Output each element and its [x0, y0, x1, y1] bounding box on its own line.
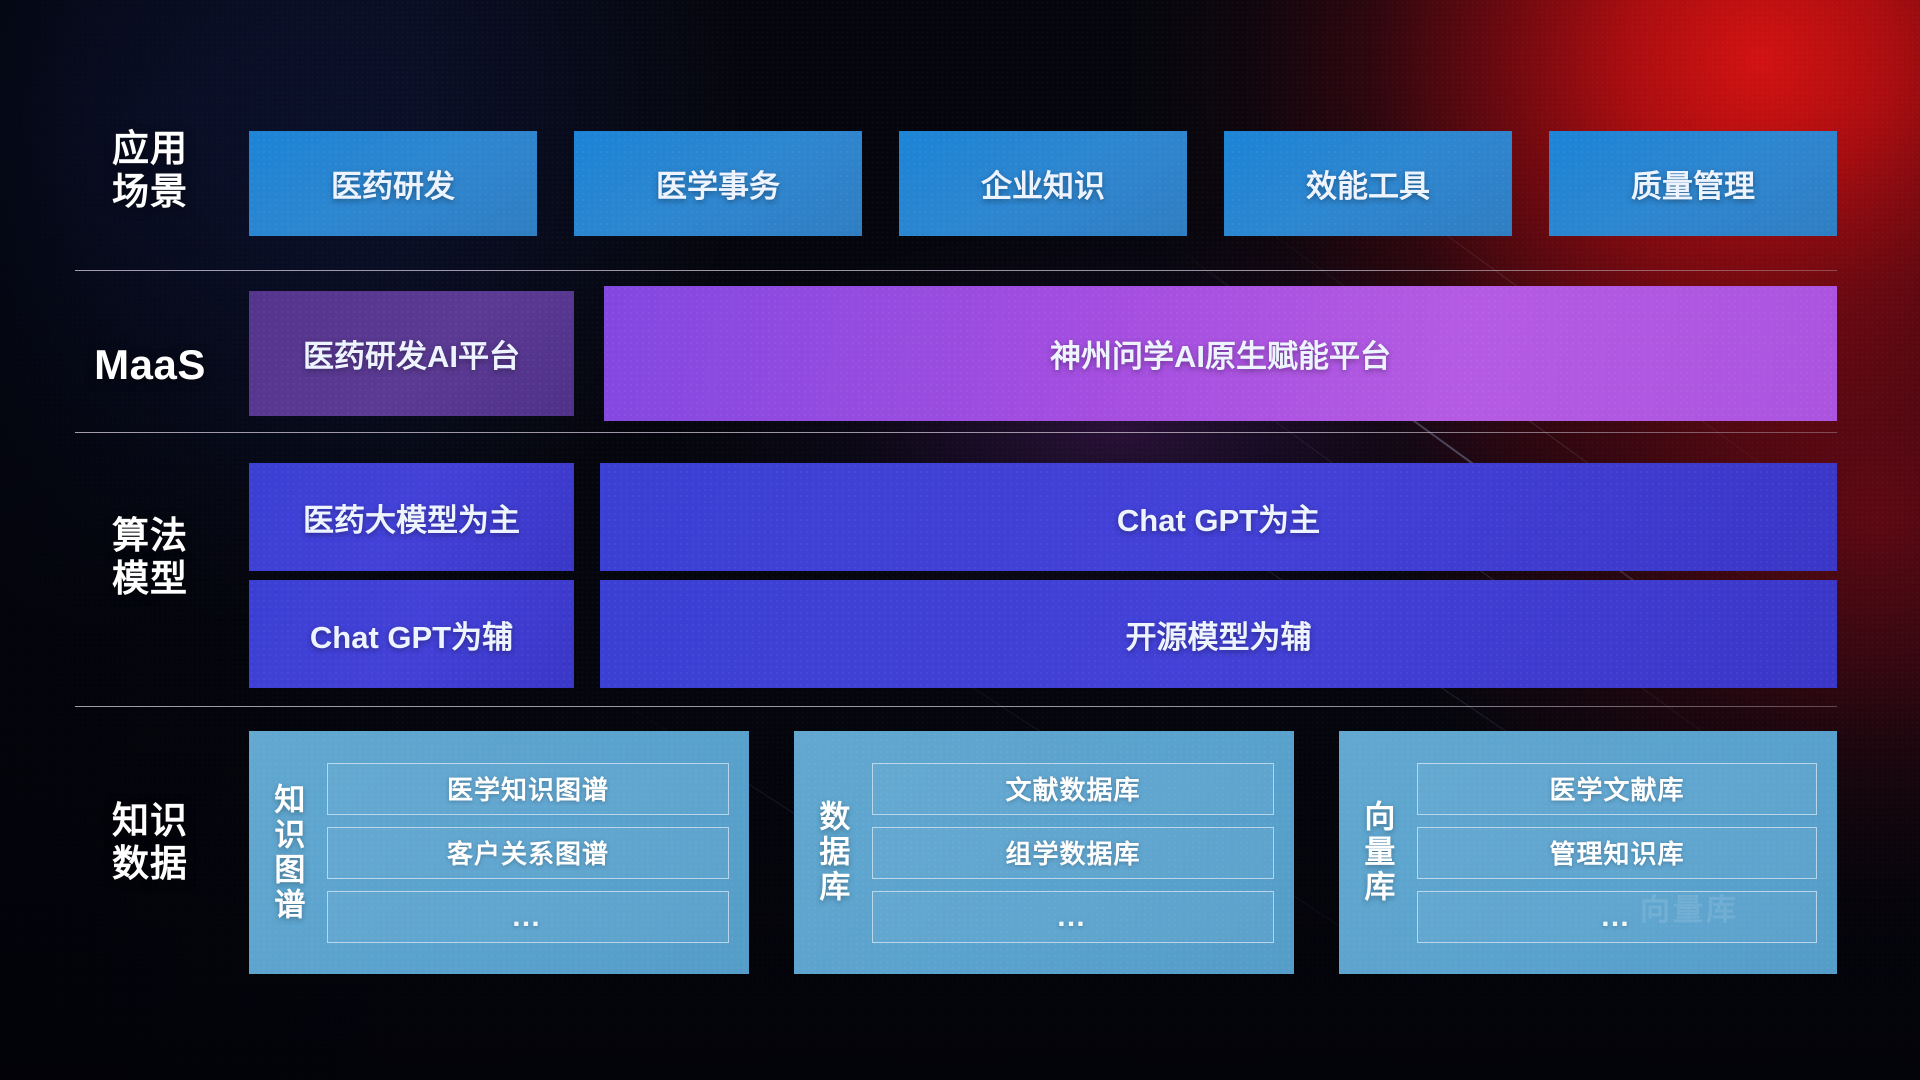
- row-label-algorithm-model: 算法 模型: [60, 515, 240, 601]
- app-card-medical-affairs[interactable]: 医学事务: [574, 131, 862, 236]
- knowledge-item[interactable]: 医学知识图谱: [327, 763, 729, 815]
- algo-card-label: 医药大模型为主: [303, 495, 520, 540]
- knowledge-item[interactable]: 管理知识库: [1417, 827, 1817, 879]
- maas-card-shenzhou-wenxue-platform[interactable]: 神州问学AI原生赋能平台: [604, 286, 1837, 421]
- maas-card-label: 神州问学AI原生赋能平台: [1050, 331, 1391, 376]
- app-card-pharma-rd[interactable]: 医药研发: [249, 131, 537, 236]
- knowledge-group-knowledge-graph[interactable]: 知识图谱 医学知识图谱 客户关系图谱 …: [249, 731, 749, 974]
- algo-card-chatgpt-primary[interactable]: Chat GPT为主: [600, 463, 1837, 571]
- knowledge-group-title: 向量库: [1339, 731, 1413, 974]
- slide-canvas: 应用 场景 医药研发 医学事务 企业知识 效能工具 质量管理 MaaS 医药研发…: [0, 0, 1920, 1080]
- algo-card-label: 开源模型为辅: [1126, 612, 1312, 657]
- knowledge-item-more[interactable]: …: [327, 891, 729, 943]
- knowledge-group-vector-store[interactable]: 向量库 医学文献库 管理知识库 …: [1339, 731, 1837, 974]
- app-card-enterprise-knowledge[interactable]: 企业知识: [899, 131, 1187, 236]
- app-card-label: 医药研发: [331, 161, 455, 206]
- app-card-label: 效能工具: [1306, 161, 1430, 206]
- app-card-quality-management[interactable]: 质量管理: [1549, 131, 1837, 236]
- maas-card-pharma-ai-platform[interactable]: 医药研发AI平台: [249, 291, 574, 416]
- app-card-label: 企业知识: [981, 161, 1105, 206]
- app-card-efficiency-tools[interactable]: 效能工具: [1224, 131, 1512, 236]
- algo-card-label: Chat GPT为辅: [310, 612, 513, 657]
- knowledge-item-more[interactable]: …: [872, 891, 1274, 943]
- algo-card-pharma-llm-primary[interactable]: 医药大模型为主: [249, 463, 574, 571]
- row-label-knowledge-data: 知识 数据: [60, 800, 240, 886]
- knowledge-item[interactable]: 医学文献库: [1417, 763, 1817, 815]
- app-card-label: 医学事务: [656, 161, 780, 206]
- maas-card-label: 医药研发AI平台: [303, 331, 520, 376]
- algo-card-label: Chat GPT为主: [1117, 495, 1320, 540]
- knowledge-group-title: 数据库: [794, 731, 868, 974]
- knowledge-group-title: 知识图谱: [249, 731, 323, 974]
- knowledge-group-database[interactable]: 数据库 文献数据库 组学数据库 …: [794, 731, 1294, 974]
- knowledge-item[interactable]: 文献数据库: [872, 763, 1274, 815]
- row-label-application-scenarios: 应用 场景: [60, 128, 240, 214]
- divider-after-application-scenarios: [75, 270, 1837, 271]
- divider-after-algorithm-model: [75, 706, 1837, 707]
- knowledge-item[interactable]: 组学数据库: [872, 827, 1274, 879]
- divider-after-maas: [75, 432, 1837, 433]
- row-label-maas: MaaS: [60, 341, 240, 390]
- knowledge-item-more[interactable]: …: [1417, 891, 1817, 943]
- app-card-label: 质量管理: [1631, 161, 1755, 206]
- algo-card-chatgpt-secondary[interactable]: Chat GPT为辅: [249, 580, 574, 688]
- knowledge-item[interactable]: 客户关系图谱: [327, 827, 729, 879]
- algo-card-opensource-secondary[interactable]: 开源模型为辅: [600, 580, 1837, 688]
